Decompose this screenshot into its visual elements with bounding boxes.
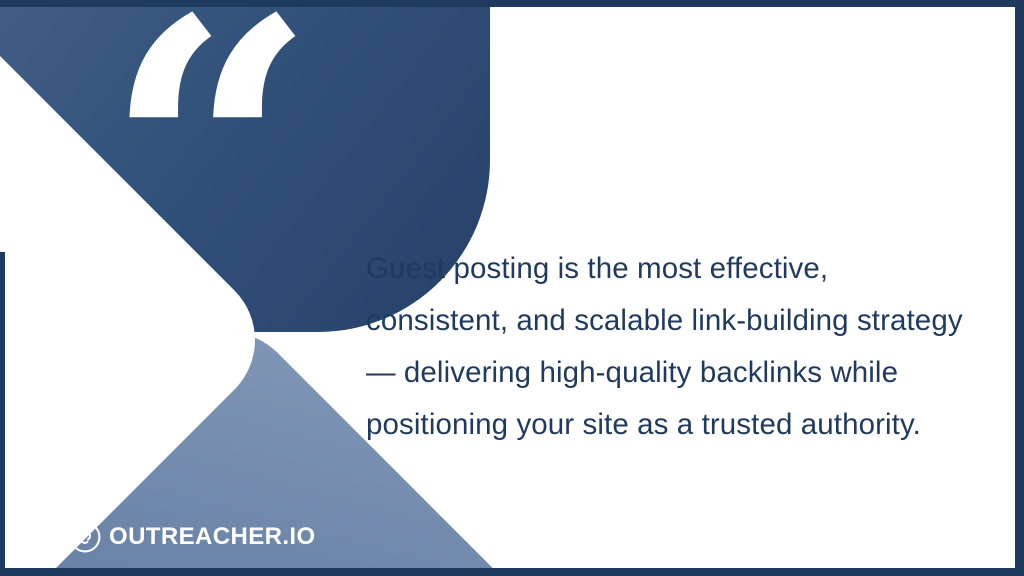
card-canvas: “ Guest posting is the most effective, c… — [0, 0, 1024, 576]
chain-link-circle-icon — [68, 520, 102, 554]
quote-graphic-card: “ Guest posting is the most effective, c… — [0, 0, 1024, 576]
quote-body-text: Guest posting is the most effective, con… — [366, 243, 978, 451]
brand-name-label: OUTREACHER.IO — [109, 525, 316, 549]
opening-quotation-mark-icon: “ — [104, 0, 313, 342]
brand-lockup: OUTREACHER.IO — [68, 520, 316, 554]
